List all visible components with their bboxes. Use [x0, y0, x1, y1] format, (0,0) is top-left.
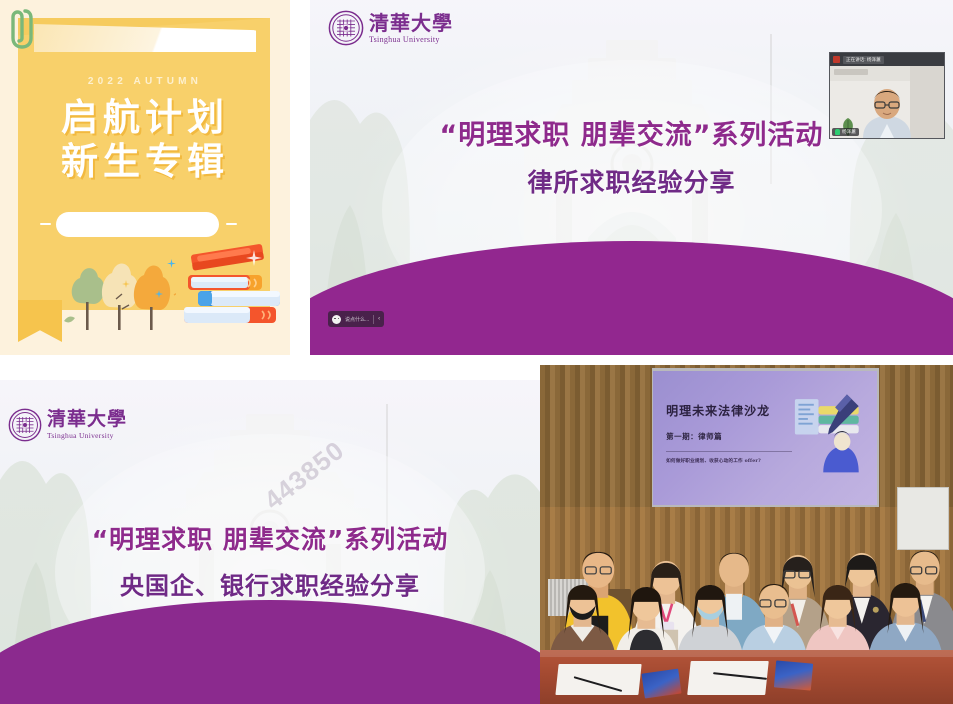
tsinghua-seal-icon	[8, 408, 42, 442]
sparkle-icon	[122, 280, 130, 288]
poster-pill-dash-left	[40, 223, 51, 225]
sparkle-icon	[155, 290, 163, 298]
sparkle-icon	[167, 259, 176, 268]
recording-badge-icon	[833, 56, 840, 63]
microphone-icon	[835, 129, 840, 135]
chat-input-placeholder[interactable]: 说点什么...	[345, 316, 369, 323]
participant-name-label: 杨泽蕙	[842, 129, 856, 135]
chat-divider	[373, 315, 374, 324]
projection-illustration	[792, 392, 864, 475]
poster-pill-dash-right	[226, 223, 237, 225]
tsinghua-logo: 清華大學 Tsinghua University	[328, 10, 453, 46]
brochure	[774, 660, 813, 690]
slide-purple-band	[310, 312, 953, 355]
tsinghua-logo-cn: 清華大學	[369, 13, 453, 33]
brochure	[642, 669, 682, 699]
photo-collage: 2022 AUTUMN 启航计划 新生专辑	[0, 0, 953, 704]
poster-title-line1: 启航计划	[0, 96, 290, 140]
participant-avatar	[858, 84, 916, 138]
conference-table	[540, 650, 953, 704]
paperclip-icon	[8, 5, 34, 51]
chat-input-bar[interactable]: 说点什么... ‹	[328, 311, 384, 327]
projector-screen: 明理未来法律沙龙 第一期：律师篇 如何做好职业规划、收获心动的工作 offer?	[653, 371, 878, 504]
video-status-bar: 正在讲话: 杨泽蕙	[830, 53, 944, 66]
projection-note: 如何做好职业规划、收获心动的工作 offer?	[666, 458, 761, 464]
bookmark-ribbon-icon	[18, 300, 62, 342]
slide-subtitle: 律所求职经验分享	[310, 163, 953, 199]
projection-divider	[666, 451, 792, 452]
tsinghua-seal-icon	[328, 10, 364, 46]
books-stack-icon	[174, 241, 284, 333]
poster-title-line2: 新生专辑	[0, 140, 290, 184]
paper-sheet	[555, 664, 641, 695]
group-photo-panel: 明理未来法律沙龙 第一期：律师篇 如何做好职业规划、收获心动的工作 offer?	[540, 365, 953, 704]
poster-pill	[56, 212, 219, 237]
poster-panel: 2022 AUTUMN 启航计划 新生专辑	[0, 0, 290, 355]
slide-law-firm: 清華大學 Tsinghua University “明理求职 朋辈交流”系列活动…	[310, 0, 953, 355]
participant-name-chip: 杨泽蕙	[832, 128, 859, 136]
projection-subtitle: 第一期：律师篇	[666, 431, 722, 442]
video-participant-tile[interactable]: 正在讲话: 杨泽蕙 杨泽蕙	[829, 52, 945, 139]
tsinghua-logo-cn: 清華大學	[47, 410, 127, 429]
tsinghua-logo: 清華大學 Tsinghua University	[8, 408, 127, 442]
slide-soe-bank: 清華大學 Tsinghua University 443850 “明理求职 朋辈…	[0, 380, 540, 704]
video-speaking-label: 正在讲话: 杨泽蕙	[843, 56, 884, 64]
poster-year-label: 2022 AUTUMN	[0, 76, 290, 87]
projector-screen-frame: 明理未来法律沙龙 第一期：律师篇 如何做好职业规划、收获心动的工作 offer?	[652, 368, 879, 507]
slide-purple-band	[0, 665, 540, 704]
chat-send-button[interactable]: ‹	[378, 316, 380, 322]
poster-title: 启航计划 新生专辑	[0, 96, 290, 184]
projection-title: 明理未来法律沙龙	[666, 402, 770, 419]
slide-subtitle: 央国企、银行求职经验分享	[0, 566, 540, 601]
emoji-avatar-icon	[332, 315, 341, 324]
slide-title: “明理求职 朋辈交流”系列活动	[0, 520, 540, 556]
sparkle-icon	[246, 250, 262, 266]
tsinghua-logo-en: Tsinghua University	[47, 432, 127, 440]
tsinghua-logo-en: Tsinghua University	[369, 36, 453, 44]
